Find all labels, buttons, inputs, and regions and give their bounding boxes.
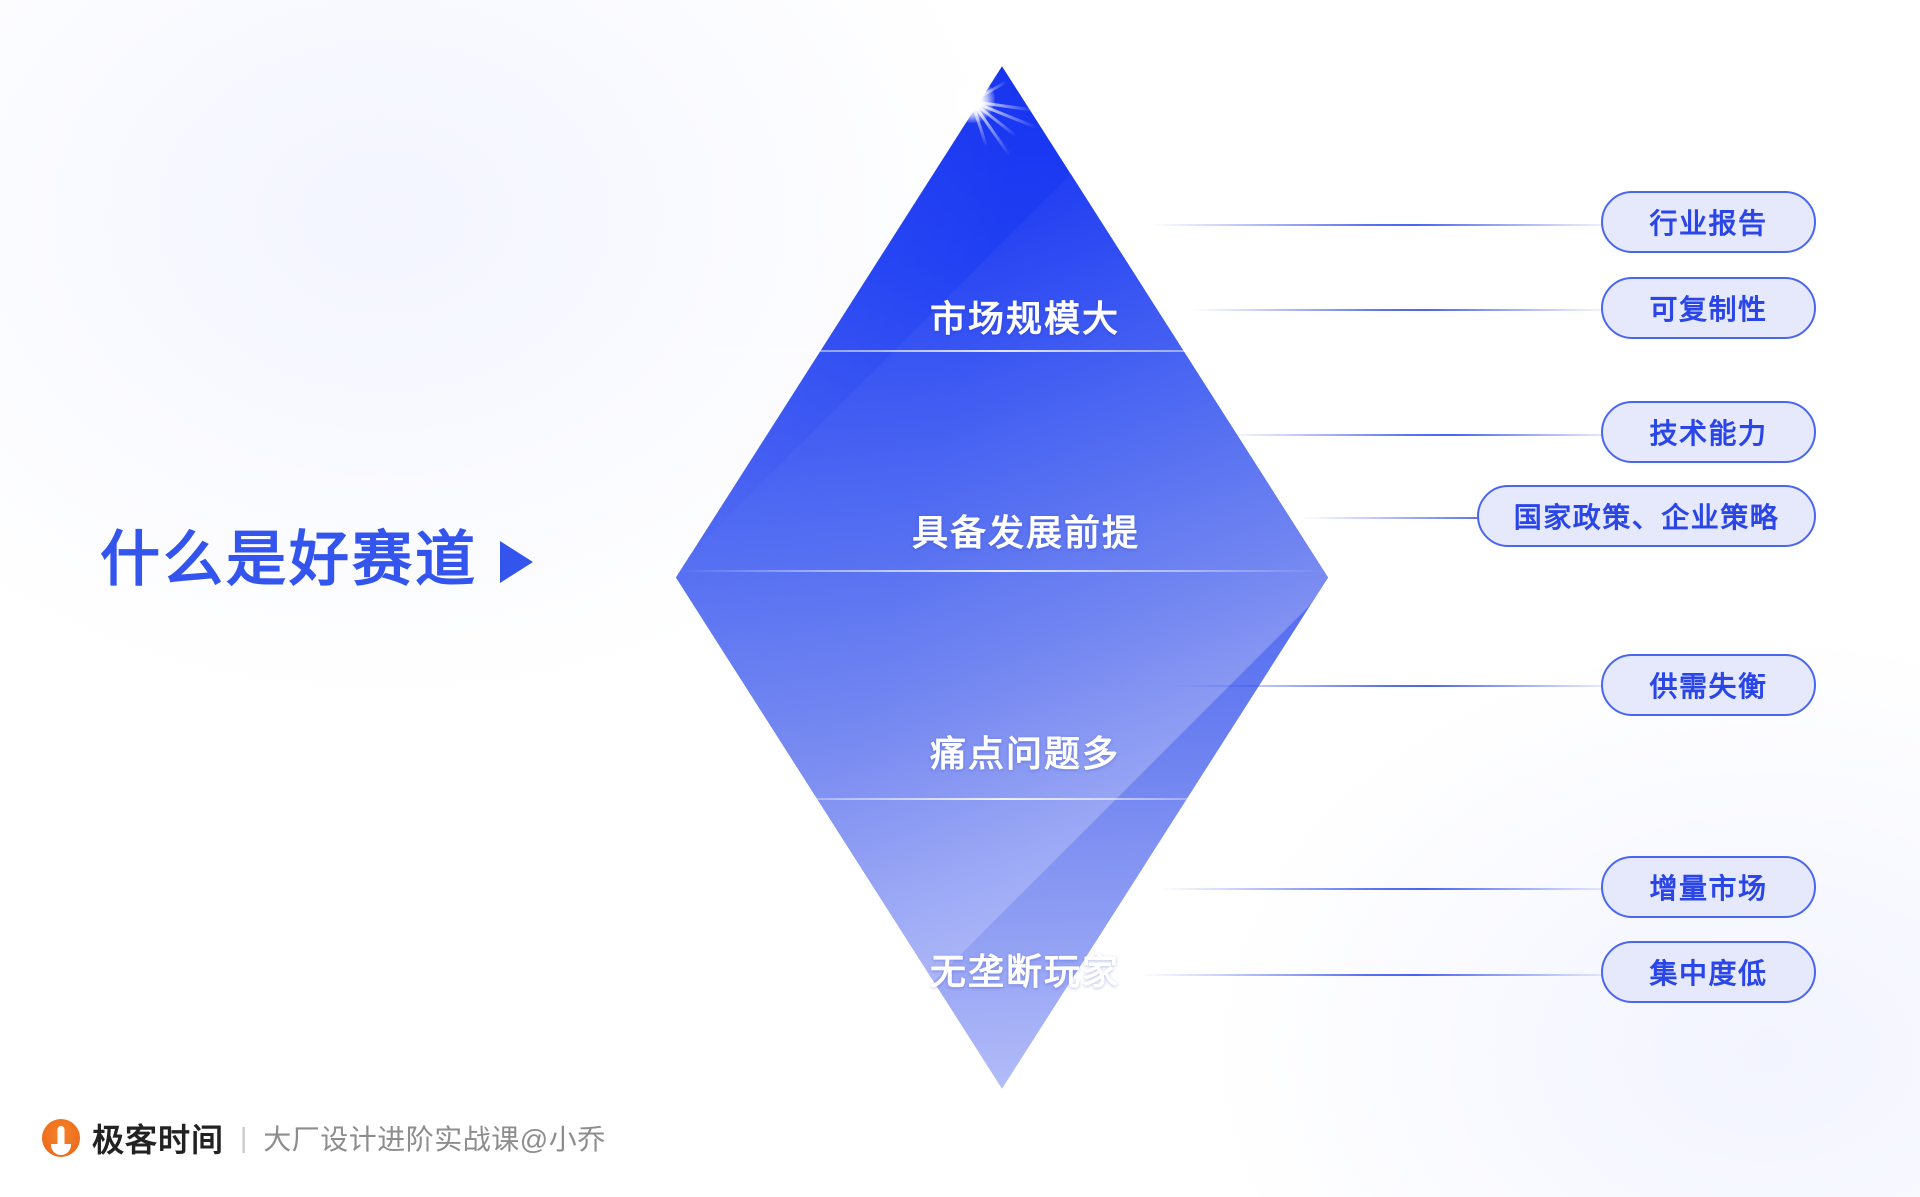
diamond-tier-label-1: 市场规模大 (930, 290, 1120, 342)
pill-industry-report[interactable]: 行业报告 (1601, 191, 1816, 253)
pill-tech-capability[interactable]: 技术能力 (1601, 401, 1816, 463)
sparkle-ray (938, 100, 972, 110)
pill-policy-strategy[interactable]: 国家政策、企业策略 (1477, 485, 1816, 547)
connector-line-7 (1140, 974, 1640, 976)
pill-incremental-market[interactable]: 增量市场 (1601, 856, 1816, 918)
slide-canvas: 什么是好赛道 市场规模大 具备发展前提 痛点问题多 无垄断玩家 (0, 0, 1920, 1197)
page-title: 什么是好赛道 (100, 530, 533, 590)
diamond-body (672, 60, 1332, 1095)
pill-low-concentration[interactable]: 集中度低 (1601, 941, 1816, 1003)
brand-separator: | (240, 1122, 247, 1154)
diamond-tier-label-4: 无垄断玩家 (930, 943, 1120, 995)
diamond-tier-label-3: 痛点问题多 (930, 725, 1120, 777)
geekbang-logo-icon (42, 1119, 80, 1157)
connector-line-5 (1170, 685, 1640, 687)
play-triangle-icon (500, 541, 533, 583)
pill-supply-demand[interactable]: 供需失衡 (1601, 654, 1816, 716)
connector-line-3 (1220, 434, 1640, 436)
pill-replicability[interactable]: 可复制性 (1601, 277, 1816, 339)
diamond-tier-label-2: 具备发展前提 (912, 504, 1140, 556)
connector-line-2 (1190, 309, 1620, 311)
diamond-gradient-fill (672, 60, 1332, 1095)
brand-name: 极客时间 (92, 1115, 224, 1161)
page-title-text: 什么是好赛道 (100, 530, 478, 590)
sparkle-ray (943, 90, 972, 103)
course-name: 大厂设计进阶实战课@小乔 (263, 1118, 605, 1158)
connector-line-6 (1160, 888, 1640, 890)
diamond-diagram: 市场规模大 具备发展前提 痛点问题多 无垄断玩家 (672, 60, 1332, 1095)
footer-branding: 极客时间 | 大厂设计进阶实战课@小乔 (42, 1115, 606, 1161)
connector-line-1 (1150, 224, 1630, 226)
